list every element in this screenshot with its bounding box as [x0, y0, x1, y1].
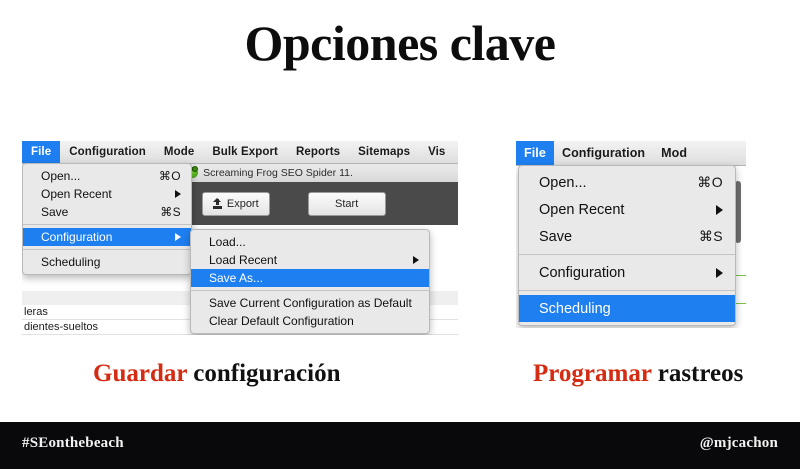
menu-item-configuration-label: Configuration: [539, 265, 702, 281]
menu-item-configuration[interactable]: Configuration: [23, 228, 191, 246]
app-title-text: Screaming Frog SEO Spider 11.: [203, 167, 353, 179]
left-file-menu: Open... ⌘O Open Recent Save ⌘S Configura…: [22, 163, 192, 275]
menu-item-open-label: Open...: [539, 175, 683, 191]
menu-item-open[interactable]: Open... ⌘O: [519, 169, 735, 196]
chevron-right-icon: [716, 205, 723, 215]
menu-separator: [519, 290, 735, 291]
caption-left: Guardar configuración: [93, 360, 340, 388]
menu-item-save-label: Save: [539, 229, 685, 245]
menu-separator: [191, 290, 429, 291]
submenu-item-clear-default-label: Clear Default Configuration: [209, 314, 419, 328]
menu-item-configuration-label: Configuration: [41, 230, 161, 244]
submenu-item-save-as-label: Save As...: [209, 271, 419, 285]
caption-left-rest: configuración: [187, 360, 340, 387]
menu-item-save[interactable]: Save ⌘S: [519, 223, 735, 250]
caption-right: Programar rastreos: [533, 360, 743, 388]
left-screenshot-image: leras dientes-sueltos Screaming Frog SEO…: [22, 141, 458, 335]
menu-separator: [519, 254, 735, 255]
menubar-item-configuration[interactable]: Configuration: [60, 141, 155, 163]
menu-item-open[interactable]: Open... ⌘O: [23, 167, 191, 185]
menu-item-open-accel: ⌘O: [159, 169, 181, 183]
footer-hashtag: #SEonthebeach: [22, 435, 124, 452]
caption-left-highlight: Guardar: [93, 360, 187, 387]
menubar-item-sitemaps[interactable]: Sitemaps: [349, 141, 419, 163]
left-menubar: File Configuration Mode Bulk Export Repo…: [22, 141, 458, 164]
start-button[interactable]: Start: [308, 192, 386, 216]
caption-right-highlight: Programar: [533, 360, 651, 387]
submenu-item-load-recent[interactable]: Load Recent: [191, 251, 429, 269]
menu-item-scheduling-label: Scheduling: [539, 301, 723, 317]
menu-item-open-recent-label: Open Recent: [539, 202, 702, 218]
submenu-item-load[interactable]: Load...: [191, 233, 429, 251]
submenu-item-load-label: Load...: [209, 235, 419, 249]
menubar-item-file[interactable]: File: [22, 141, 60, 163]
menubar-item-visualisations[interactable]: Vis: [419, 141, 454, 163]
menu-item-scheduling[interactable]: Scheduling: [23, 253, 191, 271]
chevron-right-icon: [175, 233, 181, 241]
footer-bar: #SEonthebeach @mjcachon: [0, 422, 800, 469]
menu-item-open-recent-label: Open Recent: [41, 187, 161, 201]
chevron-right-icon: [413, 256, 419, 264]
menu-separator: [23, 249, 191, 250]
right-screenshot-image: File Configuration Mod Open... ⌘O Open R…: [516, 141, 746, 328]
menu-item-scheduling-label: Scheduling: [41, 255, 181, 269]
chevron-right-icon: [716, 268, 723, 278]
submenu-item-load-recent-label: Load Recent: [209, 253, 399, 267]
submenu-item-save-default-label: Save Current Configuration as Default: [209, 296, 419, 310]
menu-separator: [23, 224, 191, 225]
menubar-item-bulk-export[interactable]: Bulk Export: [203, 141, 287, 163]
menu-item-open-recent[interactable]: Open Recent: [23, 185, 191, 203]
menu-item-save-accel: ⌘S: [699, 228, 723, 245]
submenu-item-save-default[interactable]: Save Current Configuration as Default: [191, 294, 429, 312]
menubar-item-mode[interactable]: Mod: [653, 141, 695, 165]
caption-right-rest: rastreos: [651, 360, 743, 387]
menubar-item-file[interactable]: File: [516, 141, 554, 165]
menubar-item-reports[interactable]: Reports: [287, 141, 349, 163]
menu-item-open-accel: ⌘O: [697, 174, 723, 191]
submenu-item-clear-default[interactable]: Clear Default Configuration: [191, 312, 429, 330]
menubar-item-configuration[interactable]: Configuration: [554, 141, 653, 165]
start-button-label: Start: [335, 198, 358, 210]
upload-arrow-icon: [213, 199, 222, 209]
menu-item-scheduling[interactable]: Scheduling: [519, 295, 735, 322]
export-button-label: Export: [227, 198, 259, 210]
menu-item-save-label: Save: [41, 205, 146, 219]
menu-item-open-label: Open...: [41, 169, 145, 183]
export-button[interactable]: Export: [202, 192, 270, 216]
menubar-item-mode[interactable]: Mode: [155, 141, 203, 163]
menu-item-save[interactable]: Save ⌘S: [23, 203, 191, 221]
chevron-right-icon: [175, 190, 181, 198]
submenu-item-save-as[interactable]: Save As...: [191, 269, 429, 287]
menu-item-configuration[interactable]: Configuration: [519, 259, 735, 286]
slide-root: Opciones clave leras dientes-sueltos Scr…: [0, 0, 800, 469]
right-menubar: File Configuration Mod: [516, 141, 746, 166]
footer-handle: @mjcachon: [700, 435, 778, 452]
right-file-menu: Open... ⌘O Open Recent Save ⌘S Configura…: [518, 165, 736, 326]
page-title: Opciones clave: [0, 16, 800, 71]
menu-item-save-accel: ⌘S: [160, 205, 181, 219]
left-configuration-submenu: Load... Load Recent Save As... Save Curr…: [190, 229, 430, 334]
menu-item-open-recent[interactable]: Open Recent: [519, 196, 735, 223]
